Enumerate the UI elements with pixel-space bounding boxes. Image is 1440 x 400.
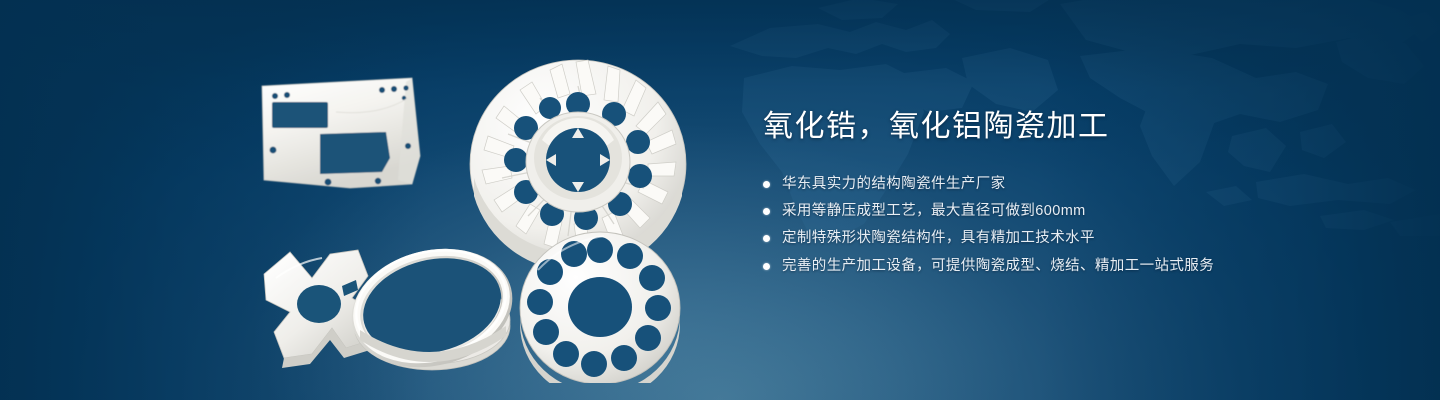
bullet-dot-icon [763,235,770,242]
list-item: 完善的生产加工设备，可提供陶瓷成型、烧结、精加工一站式服务 [763,258,1383,275]
list-item: 华东具实力的结构陶瓷件生产厂家 [763,176,1383,193]
list-item-label: 完善的生产加工设备，可提供陶瓷成型、烧结、精加工一站式服务 [782,258,1214,275]
list-item: 采用等静压成型工艺，最大直径可做到600mm [763,203,1383,220]
ceramic-plate-part [262,78,420,188]
feature-list: 华东具实力的结构陶瓷件生产厂家 采用等静压成型工艺，最大直径可做到600mm 定… [763,176,1383,276]
list-item-label: 定制特殊形状陶瓷结构件，具有精加工技术水平 [782,230,1095,247]
list-item-label: 采用等静压成型工艺，最大直径可做到600mm [782,203,1086,220]
list-item: 定制特殊形状陶瓷结构件，具有精加工技术水平 [763,230,1383,247]
ceramic-products-image [240,38,700,383]
bullet-dot-icon [763,208,770,215]
banner-copy: 氧化锆，氧化铝陶瓷加工 华东具实力的结构陶瓷件生产厂家 采用等静压成型工艺，最大… [763,108,1383,275]
hero-banner: 氧化锆，氧化铝陶瓷加工 华东具实力的结构陶瓷件生产厂家 采用等静压成型工艺，最大… [0,0,1440,400]
bullet-dot-icon [763,263,770,270]
ceramic-disc-part [520,232,680,383]
list-item-label: 华东具实力的结构陶瓷件生产厂家 [782,176,1006,193]
page-title: 氧化锆，氧化铝陶瓷加工 [763,108,1383,146]
bullet-dot-icon [763,181,770,188]
ceramic-ring-part [345,235,519,377]
